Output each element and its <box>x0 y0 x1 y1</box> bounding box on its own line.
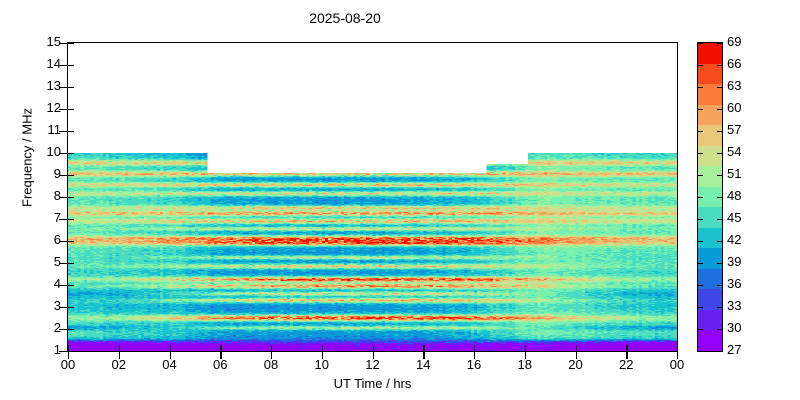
x-tick-mark-inner <box>119 345 120 352</box>
y-tick-mark-inner <box>67 241 74 242</box>
x-tick-mark-inner <box>68 345 69 352</box>
y-tick-mark-inner <box>67 307 74 308</box>
y-tick-label: 6 <box>9 232 61 247</box>
axes-frame <box>67 42 678 352</box>
y-axis-title: Frequency / MHz <box>20 78 35 238</box>
y-tick-label: 3 <box>9 298 61 313</box>
colorbar-tick-label: 45 <box>727 210 741 225</box>
colorbar-tick-label: 36 <box>727 276 741 291</box>
x-tick-mark-inner <box>220 345 221 352</box>
colorbar-tick-mark-right <box>717 153 723 154</box>
y-tick-mark-inner <box>67 87 74 88</box>
y-tick-mark-inner <box>67 109 74 110</box>
x-tick-mark-inner <box>677 345 678 352</box>
colorbar-tick-mark-right <box>717 241 723 242</box>
colorbar-tick-mark-right <box>717 351 723 352</box>
x-tick-label: 10 <box>302 357 342 372</box>
colorbar-tick-mark-right <box>717 285 723 286</box>
colorbar-tick-mark-right <box>717 263 723 264</box>
y-tick-label: 14 <box>9 56 61 71</box>
x-tick-mark-inner <box>474 345 475 352</box>
x-tick-label: 00 <box>48 357 88 372</box>
colorbar-tick-mark <box>697 87 703 88</box>
y-tick-label: 7 <box>9 210 61 225</box>
colorbar-tick-mark-right <box>717 131 723 132</box>
colorbar-tick-label: 33 <box>727 298 741 313</box>
colorbar-tick-mark <box>697 65 703 66</box>
colorbar-tick-mark <box>697 197 703 198</box>
colorbar-tick-mark-right <box>717 87 723 88</box>
y-tick-label: 15 <box>9 34 61 49</box>
x-tick-label: 06 <box>200 357 240 372</box>
x-tick-mark-inner <box>170 345 171 352</box>
y-tick-mark-inner <box>67 153 74 154</box>
colorbar-tick-mark <box>697 131 703 132</box>
colorbar-tick-mark <box>697 329 703 330</box>
y-tick-label: 11 <box>9 122 61 137</box>
x-tick-label: 20 <box>556 357 596 372</box>
x-tick-label: 14 <box>403 357 443 372</box>
colorbar-tick-label: 42 <box>727 232 741 247</box>
colorbar-tick-mark-right <box>717 43 723 44</box>
y-tick-label: 9 <box>9 166 61 181</box>
colorbar-tick-mark <box>697 219 703 220</box>
y-tick-mark-inner <box>67 263 74 264</box>
colorbar-tick-mark <box>697 175 703 176</box>
colorbar-tick-mark <box>697 43 703 44</box>
y-tick-label: 10 <box>9 144 61 159</box>
x-axis-title: UT Time / hrs <box>67 376 678 391</box>
colorbar-tick-label: 48 <box>727 188 741 203</box>
colorbar-tick-mark-right <box>717 197 723 198</box>
y-tick-mark-inner <box>67 65 74 66</box>
y-tick-mark-inner <box>67 329 74 330</box>
colorbar-tick-label: 30 <box>727 320 741 335</box>
y-tick-label: 1 <box>9 342 61 357</box>
x-tick-label: 02 <box>99 357 139 372</box>
colorbar-tick-label: 39 <box>727 254 741 269</box>
x-tick-label: 12 <box>353 357 393 372</box>
x-tick-label: 22 <box>606 357 646 372</box>
x-tick-label: 08 <box>251 357 291 372</box>
x-tick-mark-inner <box>373 345 374 352</box>
y-tick-label: 8 <box>9 188 61 203</box>
y-tick-mark-inner <box>67 131 74 132</box>
colorbar-tick-mark <box>697 109 703 110</box>
x-tick-mark-inner <box>576 345 577 352</box>
colorbar-tick-label: 66 <box>727 56 741 71</box>
y-tick-label: 2 <box>9 320 61 335</box>
colorbar-tick-mark-right <box>717 219 723 220</box>
colorbar-tick-mark-right <box>717 329 723 330</box>
y-tick-mark-inner <box>67 175 74 176</box>
y-tick-mark-inner <box>67 43 74 44</box>
x-tick-label: 04 <box>150 357 190 372</box>
page-title: 2025-08-20 <box>0 10 690 26</box>
colorbar-tick-mark <box>697 153 703 154</box>
colorbar-tick-label: 57 <box>727 122 741 137</box>
x-tick-label: 16 <box>454 357 494 372</box>
colorbar-tick-label: 63 <box>727 78 741 93</box>
x-tick-mark-inner <box>423 345 424 352</box>
colorbar-tick-mark-right <box>717 109 723 110</box>
y-tick-label: 5 <box>9 254 61 269</box>
x-tick-mark-inner <box>626 345 627 352</box>
x-tick-label: 00 <box>657 357 697 372</box>
colorbar-tick-mark <box>697 241 703 242</box>
colorbar-tick-label: 69 <box>727 34 741 49</box>
y-tick-label: 4 <box>9 276 61 291</box>
y-tick-label: 13 <box>9 78 61 93</box>
x-tick-label: 18 <box>505 357 545 372</box>
y-tick-mark-inner <box>67 285 74 286</box>
heatmap-figure: 2025-08-20 123456789101112131415 0002040… <box>0 0 800 400</box>
x-tick-mark-inner <box>322 345 323 352</box>
colorbar-tick-mark <box>697 285 703 286</box>
colorbar-tick-mark-right <box>717 65 723 66</box>
x-tick-mark-inner <box>271 345 272 352</box>
y-tick-label: 12 <box>9 100 61 115</box>
colorbar-tick-label: 27 <box>727 342 741 357</box>
x-tick-mark-inner <box>525 345 526 352</box>
y-tick-mark-inner <box>67 197 74 198</box>
colorbar-tick-mark <box>697 307 703 308</box>
colorbar-tick-label: 60 <box>727 100 741 115</box>
y-tick-mark-inner <box>67 219 74 220</box>
colorbar-tick-mark-right <box>717 175 723 176</box>
colorbar-tick-mark <box>697 263 703 264</box>
colorbar-tick-mark <box>697 351 703 352</box>
colorbar-tick-mark-right <box>717 307 723 308</box>
colorbar-tick-label: 54 <box>727 144 741 159</box>
colorbar-tick-label: 51 <box>727 166 741 181</box>
